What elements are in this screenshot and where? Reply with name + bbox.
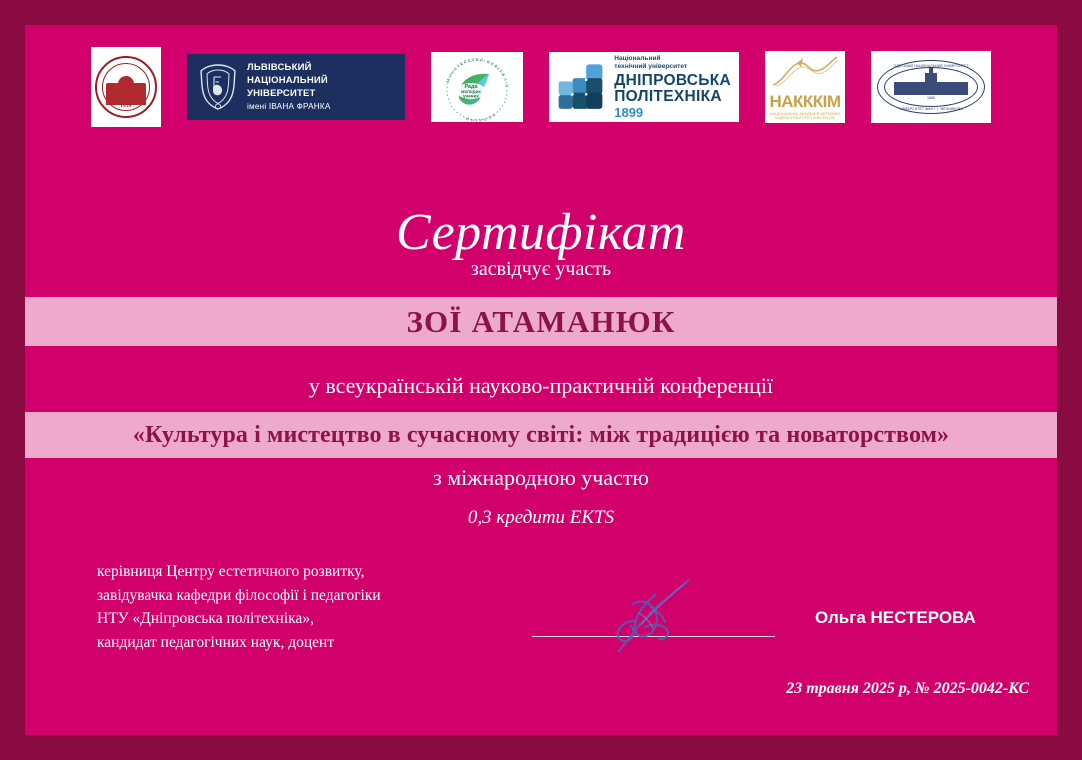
lviv-national-university-logo: ЛЬВІВСЬКИЙ НАЦІОНАЛЬНИЙ УНІВЕРСИТЕТ імен… [187, 54, 405, 120]
certificate: 1834 ЛЬВІВСЬКИЙ НАЦІОНАЛЬНИЙ УНІВЕРСИТЕТ… [0, 0, 1082, 760]
participation-line: з міжнародною участю [25, 465, 1057, 491]
signatory-name: Ольга НЕСТЕРОВА [815, 608, 976, 628]
dnipro-logo-small-lines: Національний технічний університет [614, 55, 731, 71]
dnipro-blocks-icon [557, 56, 607, 118]
certificate-date-and-number: 23 травня 2025 р, № 2025-0042-КС [786, 680, 1029, 698]
handwritten-signature-icon [593, 577, 723, 655]
signatory-role-line-4: кандидат педагогічних наук, доцент [97, 631, 381, 655]
nakkkim-subtitle: НАЦІОНАЛЬНА АКАДЕМІЯ КЕРІВНИХ КАДРІВ КУЛ… [765, 112, 845, 120]
odesa-outer-oval: 1865 ОДЕСЬКИЙ НАЦІОНАЛЬНИЙ УНІВЕРСИТЕТ У… [877, 60, 985, 114]
nakkkim-inner: НАКККІМ НАЦІОНАЛЬНА АКАДЕМІЯ КЕРІВНИХ КА… [765, 54, 845, 120]
odesa-bottom-text: УНІВЕРСИТЕТ імені І. І. МЕЧНИКОВА [878, 107, 984, 111]
seal-building-icon [106, 83, 146, 105]
nakkkim-logo: НАКККІМ НАЦІОНАЛЬНА АКАДЕМІЯ КЕРІВНИХ КА… [765, 51, 845, 123]
odesa-year-label: 1865 [885, 96, 977, 100]
recipient-name: ЗОЇ АТАМАНЮК [406, 304, 675, 340]
signatory-role-line-1: керівниця Центру естетичного розвитку, [97, 560, 381, 584]
event-title: «Культура і мистецтво в сучасному світі:… [133, 422, 949, 449]
lviv-logo-line-1: ЛЬВІВСЬКИЙ [247, 62, 395, 75]
nakkkim-swoosh-icon [770, 54, 840, 88]
odesa-top-text: ОДЕСЬКИЙ НАЦІОНАЛЬНИЙ УНІВЕРСИТЕТ [878, 64, 984, 68]
svg-text:УКРАЇНИ: УКРАЇНИ [463, 113, 496, 122]
odesa-national-university-logo: 1865 ОДЕСЬКИЙ НАЦІОНАЛЬНИЙ УНІВЕРСИТЕТ У… [871, 51, 991, 123]
partner-logos-strip: 1834 ЛЬВІВСЬКИЙ НАЦІОНАЛЬНИЙ УНІВЕРСИТЕТ… [25, 47, 1057, 127]
lviv-logo-line-2: НАЦІОНАЛЬНИЙ УНІВЕРСИТЕТ [247, 75, 395, 101]
rada-logo-icon: Рада молодих учених МІНІСТЕРСТВО ОСВІТИ … [431, 52, 523, 122]
signatory-role-line-2: завідувачка кафедри філософії і педагогі… [97, 584, 381, 608]
dnipro-small-line-1: Національний [614, 55, 731, 63]
signatory-role-line-3: НТУ «Дніпровська політехніка», [97, 607, 381, 631]
certificate-title: Сертифікат [25, 203, 1057, 263]
odesa-inner-oval: 1865 [884, 67, 978, 107]
certificate-inner-frame: 1834 ЛЬВІВСЬКИЙ НАЦІОНАЛЬНИЙ УНІВЕРСИТЕТ… [25, 25, 1057, 735]
dnipro-polytechnic-logo: Національний технічний університет ДНІПР… [549, 52, 739, 122]
seal-outer-ring: 1834 [95, 56, 157, 118]
seal-emblem-logo: 1834 [91, 47, 161, 127]
certificate-subtitle: засвідчує участь [25, 258, 1057, 281]
odesa-building-icon [894, 82, 968, 95]
dnipro-year-label: 1899 [614, 106, 731, 119]
dnipro-small-line-2: технічний університет [614, 63, 731, 71]
dnipro-logo-text: Національний технічний університет ДНІПР… [614, 55, 731, 119]
rada-molodyh-uchenyh-logo: Рада молодих учених МІНІСТЕРСТВО ОСВІТИ … [431, 52, 523, 122]
event-type-line: у всеукраїнській науково-практичній конф… [25, 373, 1057, 399]
recipient-name-band: ЗОЇ АТАМАНЮК [25, 297, 1057, 346]
lviv-crest-icon [197, 63, 239, 111]
seal-year-label: 1834 [97, 104, 155, 109]
svg-text:учених: учених [463, 94, 479, 99]
lviv-logo-text: ЛЬВІВСЬКИЙ НАЦІОНАЛЬНИЙ УНІВЕРСИТЕТ імен… [247, 62, 395, 112]
dnipro-big-line-1: ДНІПРОВСЬКА [614, 73, 731, 89]
signature-area [525, 573, 775, 663]
event-title-band: «Культура і мистецтво в сучасному світі:… [25, 412, 1057, 458]
credits-line: 0,3 кредити ЕКТS [25, 507, 1057, 529]
signatory-role-block: керівниця Центру естетичного розвитку, з… [97, 560, 381, 655]
nakkkim-word: НАКККІМ [765, 93, 845, 110]
lviv-logo-line-3: імені ІВАНА ФРАНКА [247, 101, 395, 112]
dnipro-big-line-2: ПОЛІТЕХНІКА [614, 89, 731, 105]
